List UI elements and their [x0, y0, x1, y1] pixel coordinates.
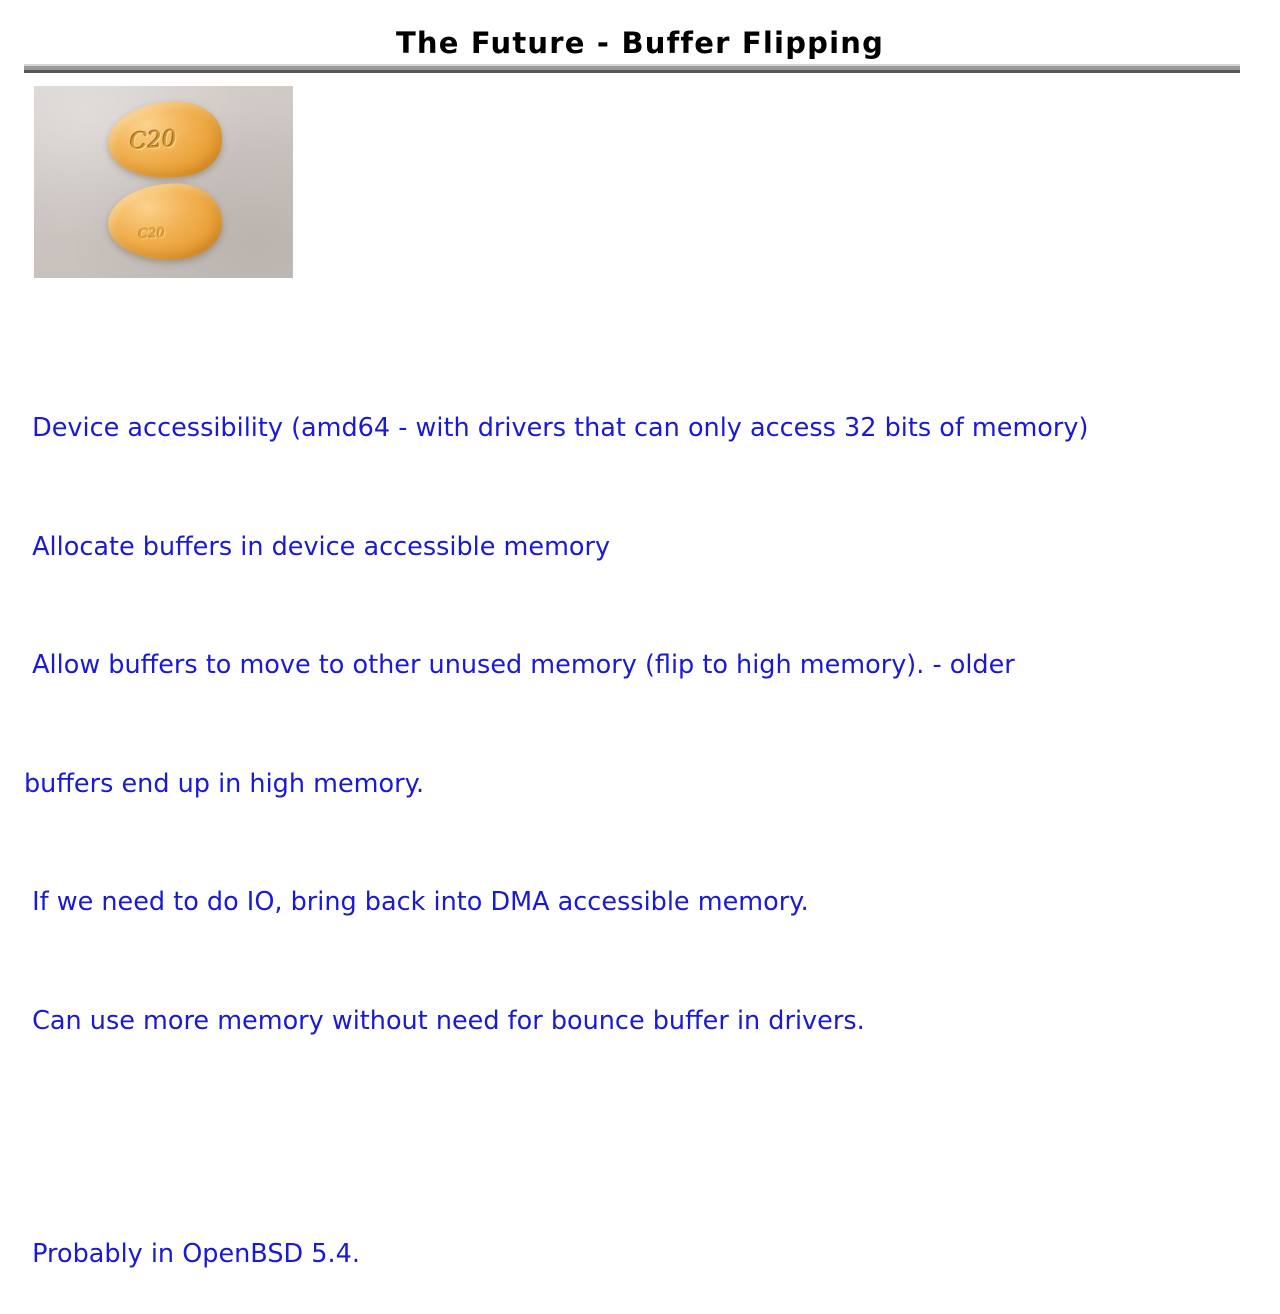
body-line-4: buffers end up in high memory. [24, 765, 1256, 805]
divider-shadow [24, 70, 1240, 73]
slide-body: Device accessibility (amd64 - with drive… [24, 330, 1256, 1314]
page-title: The Future - Buffer Flipping [0, 26, 1280, 60]
pill-bottom-imprint: C20 [138, 224, 197, 243]
body-line-1: Device accessibility (amd64 - with drive… [24, 409, 1256, 449]
slide-canvas: { "slide": { "title": "The Future - Buff… [0, 0, 1280, 800]
body-line-2: Allocate buffers in device accessible me… [24, 528, 1256, 568]
body-line-5: If we need to do IO, bring back into DMA… [24, 883, 1256, 923]
body-line-7: Probably in OpenBSD 5.4. [24, 1235, 1256, 1275]
title-divider [24, 64, 1240, 73]
body-line-blank [24, 1120, 1256, 1156]
body-line-6: Can use more memory without need for bou… [24, 1002, 1256, 1042]
pill-photo: C20 C20 [34, 86, 293, 278]
body-line-3: Allow buffers to move to other unused me… [24, 646, 1256, 686]
pill-top-imprint: C20 [129, 123, 203, 156]
